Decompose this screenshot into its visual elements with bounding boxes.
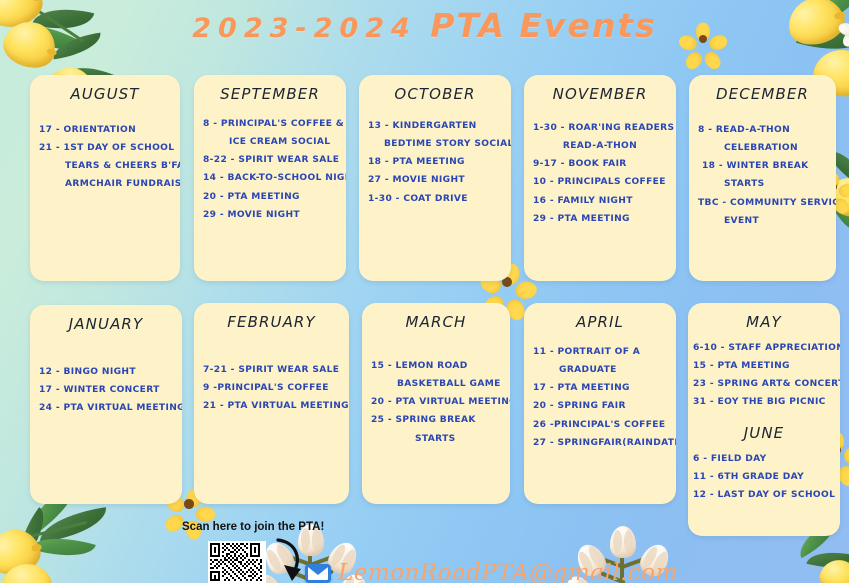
month-title: MAY <box>688 303 840 333</box>
event-item: 10 - PRINCIPALS COFFEE <box>533 174 667 192</box>
month-card-december: DECEMBER 8 - READ-A-THON CELEBRATION 18 … <box>689 75 836 281</box>
month-card-september: SEPTEMBER 8 - PRINCIPAL'S COFFEE & ICE C… <box>194 75 346 281</box>
email-icon <box>305 564 331 583</box>
event-item: 24 - PTA VIRTUAL MEETING <box>39 400 173 418</box>
month-title: AUGUST <box>30 75 180 105</box>
event-list: 7-21 - SPIRIT WEAR SALE 9 -PRINCIPAL'S C… <box>194 333 349 420</box>
event-item: 20 - SPRING FAIR <box>533 398 667 416</box>
pta-events-poster: 2023-2024 PTA Events AUGUST 17 - ORIENTA… <box>0 0 849 583</box>
event-item: 1-30 - COAT DRIVE <box>368 190 502 208</box>
month-card-october: OCTOBER 13 - KINDERGARTEN BEDTIME STORY … <box>359 75 511 281</box>
event-item: 1-30 - ROAR'ING READERS <box>533 119 667 137</box>
event-item: 8-22 - SPIRIT WEAR SALE <box>203 152 337 170</box>
event-item: 12 - BINGO NIGHT <box>39 363 173 381</box>
event-item: 29 - MOVIE NIGHT <box>203 206 337 224</box>
event-list: 13 - KINDERGARTEN BEDTIME STORY SOCIAL 1… <box>359 105 511 212</box>
event-item: TBC - COMMUNITY SERVICE <box>698 194 827 212</box>
event-list: 12 - BINGO NIGHT 17 - WINTER CONCERT 24 … <box>30 335 182 422</box>
event-item: BEDTIME STORY SOCIAL <box>368 135 502 153</box>
event-item: 18 - WINTER BREAK <box>698 158 827 176</box>
event-list: 8 - READ-A-THON CELEBRATION 18 - WINTER … <box>689 105 836 235</box>
qr-code-image <box>208 541 266 583</box>
event-list: 11 - PORTRAIT OF A GRADUATE 17 - PTA MEE… <box>524 333 676 457</box>
event-item: 15 - PTA MEETING <box>693 357 831 375</box>
event-item: READ-A-THON <box>533 137 667 155</box>
month-title: NOVEMBER <box>524 75 676 105</box>
event-item: 15 - LEMON ROAD <box>371 357 501 375</box>
event-item: 20 - PTA MEETING <box>203 188 337 206</box>
event-item: 17 - WINTER CONCERT <box>39 381 173 399</box>
event-item: 17 - PTA MEETING <box>533 380 667 398</box>
event-list: 6 - FIELD DAY 11 - 6TH GRADE DAY 12 - LA… <box>688 444 840 509</box>
month-title: SEPTEMBER <box>194 75 346 105</box>
event-item: ICE CREAM SOCIAL <box>203 133 337 151</box>
month-title: OCTOBER <box>359 75 511 105</box>
month-card-april: APRIL 11 - PORTRAIT OF A GRADUATE 17 - P… <box>524 303 676 504</box>
event-item: 31 - EOY THE BIG PICNIC <box>693 394 831 412</box>
event-item: 27 - SPRINGFAIR(RAINDATE) <box>533 434 667 452</box>
event-item: 20 - PTA VIRTUAL MEETING <box>371 394 501 412</box>
event-item: 25 - SPRING BREAK <box>371 412 501 430</box>
event-item: 8 - PRINCIPAL'S COFFEE & <box>203 115 337 133</box>
event-item: 27 - MOVIE NIGHT <box>368 172 502 190</box>
event-item: 9-17 - BOOK FAIR <box>533 156 667 174</box>
event-item: ARMCHAIR FUNDRAISER <box>39 176 171 194</box>
month-card-may-june: MAY 6-10 - STAFF APPRECIATION 15 - PTA M… <box>688 303 840 536</box>
event-list: 15 - LEMON ROAD BASKETBALL GAME 20 - PTA… <box>362 333 510 452</box>
month-card-august: AUGUST 17 - ORIENTATION 21 - 1ST DAY OF … <box>30 75 180 281</box>
month-title: JUNE <box>688 416 840 444</box>
event-list: 8 - PRINCIPAL'S COFFEE & ICE CREAM SOCIA… <box>194 105 346 229</box>
event-item: 26 -PRINCIPAL'S COFFEE <box>533 416 667 434</box>
event-item: 9 -PRINCIPAL'S COFFEE <box>203 379 340 397</box>
event-item: 7-21 - SPIRIT WEAR SALE <box>203 361 340 379</box>
pta-email[interactable]: LemonRoadPTA@gmail.com <box>338 560 678 583</box>
event-item: STARTS <box>698 176 827 194</box>
month-card-march: MARCH 15 - LEMON ROAD BASKETBALL GAME 20… <box>362 303 510 504</box>
event-item: CELEBRATION <box>698 139 827 157</box>
event-item: 12 - LAST DAY OF SCHOOL <box>693 487 831 505</box>
event-item: TEARS & CHEERS B'FAST <box>39 158 171 176</box>
event-item: 8 - READ-A-THON <box>698 121 827 139</box>
month-title: FEBRUARY <box>194 303 349 333</box>
event-item: 13 - KINDERGARTEN <box>368 117 502 135</box>
month-card-november: NOVEMBER 1-30 - ROAR'ING READERS READ-A-… <box>524 75 676 281</box>
qr-code[interactable] <box>208 541 266 583</box>
event-item: 14 - BACK-TO-SCHOOL NIGHT <box>203 170 337 188</box>
event-item: 6-10 - STAFF APPRECIATION <box>693 339 831 357</box>
event-item: 11 - 6TH GRADE DAY <box>693 468 831 486</box>
month-title: APRIL <box>524 303 676 333</box>
month-card-january: JANUARY 12 - BINGO NIGHT 17 - WINTER CON… <box>30 305 182 504</box>
event-item: BASKETBALL GAME <box>371 375 501 393</box>
title-year: 2023-2024 <box>192 13 417 44</box>
month-title: JANUARY <box>30 305 182 335</box>
scan-label: Scan here to join the PTA! <box>182 521 324 533</box>
month-title: DECEMBER <box>689 75 836 105</box>
event-item: STARTS <box>371 430 501 448</box>
event-item: 11 - PORTRAIT OF A <box>533 343 667 361</box>
event-item: 23 - SPRING ART& CONCERT <box>693 376 831 394</box>
event-item: GRADUATE <box>533 361 667 379</box>
event-item: 21 - PTA VIRTUAL MEETING <box>203 398 340 416</box>
month-title: MARCH <box>362 303 510 333</box>
event-list: 1-30 - ROAR'ING READERS READ-A-THON 9-17… <box>524 105 676 233</box>
event-item: EVENT <box>698 212 827 230</box>
event-item: 17 - ORIENTATION <box>39 121 171 139</box>
page-title: 2023-2024 PTA Events <box>0 6 849 45</box>
event-list: 17 - ORIENTATION 21 - 1ST DAY OF SCHOOL … <box>30 105 180 198</box>
event-item: 18 - PTA MEETING <box>368 154 502 172</box>
event-item: 6 - FIELD DAY <box>693 450 831 468</box>
title-main: PTA Events <box>430 6 657 45</box>
event-list: 6-10 - STAFF APPRECIATION 15 - PTA MEETI… <box>688 333 840 416</box>
event-item: 29 - PTA MEETING <box>533 210 667 228</box>
event-item: 21 - 1ST DAY OF SCHOOL <box>39 139 171 157</box>
month-card-february: FEBRUARY 7-21 - SPIRIT WEAR SALE 9 -PRIN… <box>194 303 349 504</box>
event-item: 16 - FAMILY NIGHT <box>533 192 667 210</box>
